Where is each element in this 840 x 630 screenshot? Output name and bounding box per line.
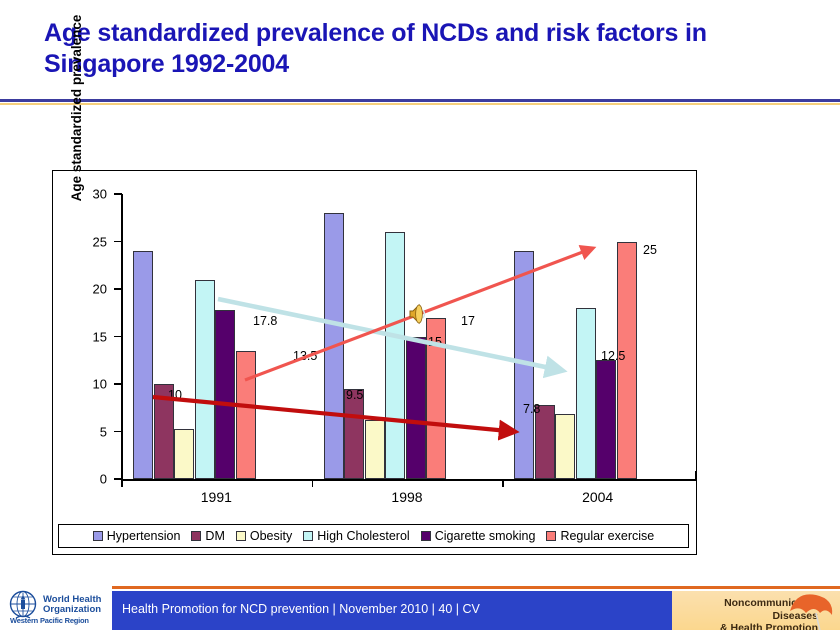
y-tick-label: 10 [63,377,107,392]
x-axis-line [121,479,696,481]
bar [133,251,153,479]
speaker-icon[interactable] [408,302,430,326]
x-tick [502,479,504,487]
bar [174,429,194,479]
footer-caption: Health Promotion for NCD prevention | No… [122,602,480,616]
legend-item-dm[interactable]: DM [191,529,224,543]
bar [236,351,256,479]
legend-swatch-icon [236,531,246,541]
bar-value-label: 10 [168,388,182,402]
footer-bar: Health Promotion for NCD prevention | No… [112,591,840,630]
who-wordmark: World Health Organization [43,595,101,616]
bar [324,213,344,479]
y-tick-label: 25 [63,234,107,249]
bar [195,280,215,480]
who-region-label: Western Pacific Region [10,616,89,625]
ncd-badge: Noncommunicable Diseases & Health Promot… [672,591,840,630]
bar-value-label: 17.8 [253,314,277,328]
legend-label: DM [205,529,224,543]
bar [365,420,385,479]
bar-value-label: 15 [428,335,442,349]
legend-item-hypertension[interactable]: Hypertension [93,529,181,543]
bar [555,414,575,479]
bar [215,310,235,479]
bar-value-label: 12.5 [601,349,625,363]
divider-navy-line [0,99,840,102]
bar-value-label: 13.5 [293,349,317,363]
y-tick-label: 20 [63,282,107,297]
divider-gold-line [0,103,840,105]
chart-container: Age standardized prevalence 051015202530… [52,170,697,555]
bar-value-label: 25 [643,243,657,257]
x-tick [312,479,314,487]
legend-label: Cigarette smoking [435,529,536,543]
plot-area [121,194,693,479]
bar [406,337,426,480]
footer-top-rule [112,586,840,589]
bar [385,232,405,479]
slide-footer: World Health Organization Western Pacifi… [0,580,840,630]
who-logo: World Health Organization Western Pacifi… [6,584,110,626]
legend-swatch-icon [546,531,556,541]
legend-swatch-icon [191,531,201,541]
page-title: Age standardized prevalence of NCDs and … [44,18,804,80]
legend-label: Hypertension [107,529,181,543]
legend-swatch-icon [421,531,431,541]
legend-label: High Cholesterol [317,529,409,543]
bar [344,389,364,479]
bar [596,360,616,479]
umbrella-icon [786,591,838,630]
y-tick-label: 15 [63,329,107,344]
x-axis-end-cap [695,471,697,480]
legend-item-high-cholesterol[interactable]: High Cholesterol [303,529,409,543]
title-divider [0,99,840,105]
y-tick-label: 30 [63,187,107,202]
chart-legend: HypertensionDMObesityHigh CholesterolCig… [58,524,689,548]
x-axis-label: 1998 [357,489,457,505]
bar [576,308,596,479]
x-axis-label: 2004 [548,489,648,505]
y-tick-label: 5 [63,424,107,439]
bar [514,251,534,479]
x-axis-label: 1991 [166,489,266,505]
legend-label: Obesity [250,529,292,543]
y-tick-label: 0 [63,472,107,487]
x-tick [121,479,123,487]
bar-value-label: 17 [461,314,475,328]
legend-swatch-icon [93,531,103,541]
bar-value-label: 7.8 [523,402,540,416]
legend-swatch-icon [303,531,313,541]
legend-label: Regular exercise [560,529,654,543]
bar [535,405,555,479]
legend-item-regular-exercise[interactable]: Regular exercise [546,529,654,543]
legend-item-cigarette-smoking[interactable]: Cigarette smoking [421,529,536,543]
legend-item-obesity[interactable]: Obesity [236,529,292,543]
who-line-2: Organization [43,605,101,616]
bar-value-label: 9.5 [346,388,363,402]
